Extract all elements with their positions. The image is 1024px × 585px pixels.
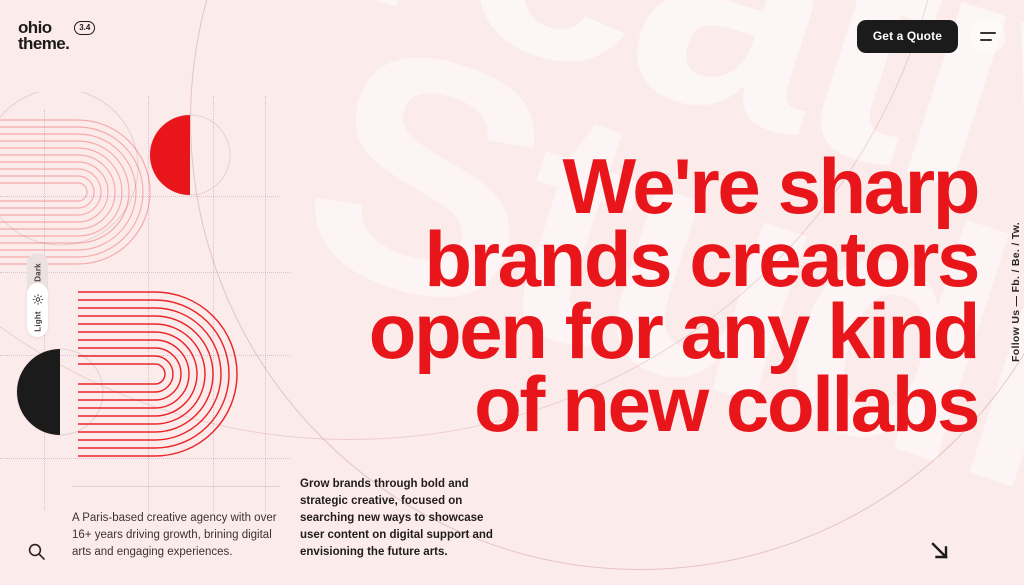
theme-option-dark[interactable]: Dark	[33, 263, 42, 282]
logo-wordmark: ohio theme.	[18, 20, 69, 52]
sun-icon	[32, 292, 43, 303]
arrow-down-right-icon[interactable]	[928, 539, 952, 563]
statement-block: Grow brands through bold and strategic c…	[300, 476, 500, 561]
intro-paragraph: A Paris-based creative agency with over …	[72, 510, 280, 561]
theme-option-light[interactable]: Light	[33, 311, 42, 332]
logo-line-2: theme.	[18, 36, 69, 52]
version-badge: 3.4	[74, 21, 95, 35]
divider	[72, 486, 280, 487]
headline-line-4: of new collabs	[358, 368, 978, 441]
headline-line-1: We're sharp	[358, 150, 978, 223]
search-icon[interactable]	[26, 541, 48, 563]
theme-toggle[interactable]: Dark Light	[27, 253, 48, 337]
statement-paragraph: Grow brands through bold and strategic c…	[300, 476, 500, 561]
get-a-quote-button[interactable]: Get a Quote	[857, 20, 958, 53]
intro-block: A Paris-based creative agency with over …	[72, 486, 280, 561]
headline-line-3: open for any kind	[358, 295, 978, 368]
logo[interactable]: ohio theme. 3.4	[18, 20, 95, 52]
burger-line-top	[980, 32, 996, 34]
site-header: ohio theme. 3.4 Get a Quote	[0, 0, 1024, 72]
page-title: We're sharp brands creators open for any…	[358, 150, 978, 440]
burger-line-bottom	[980, 39, 992, 41]
header-actions: Get a Quote	[857, 18, 1006, 54]
follow-us-links[interactable]: Follow Us — Fb. / Be. / Tw.	[1010, 222, 1022, 362]
hamburger-menu-icon[interactable]	[970, 18, 1006, 54]
headline-line-2: brands creators	[358, 223, 978, 296]
